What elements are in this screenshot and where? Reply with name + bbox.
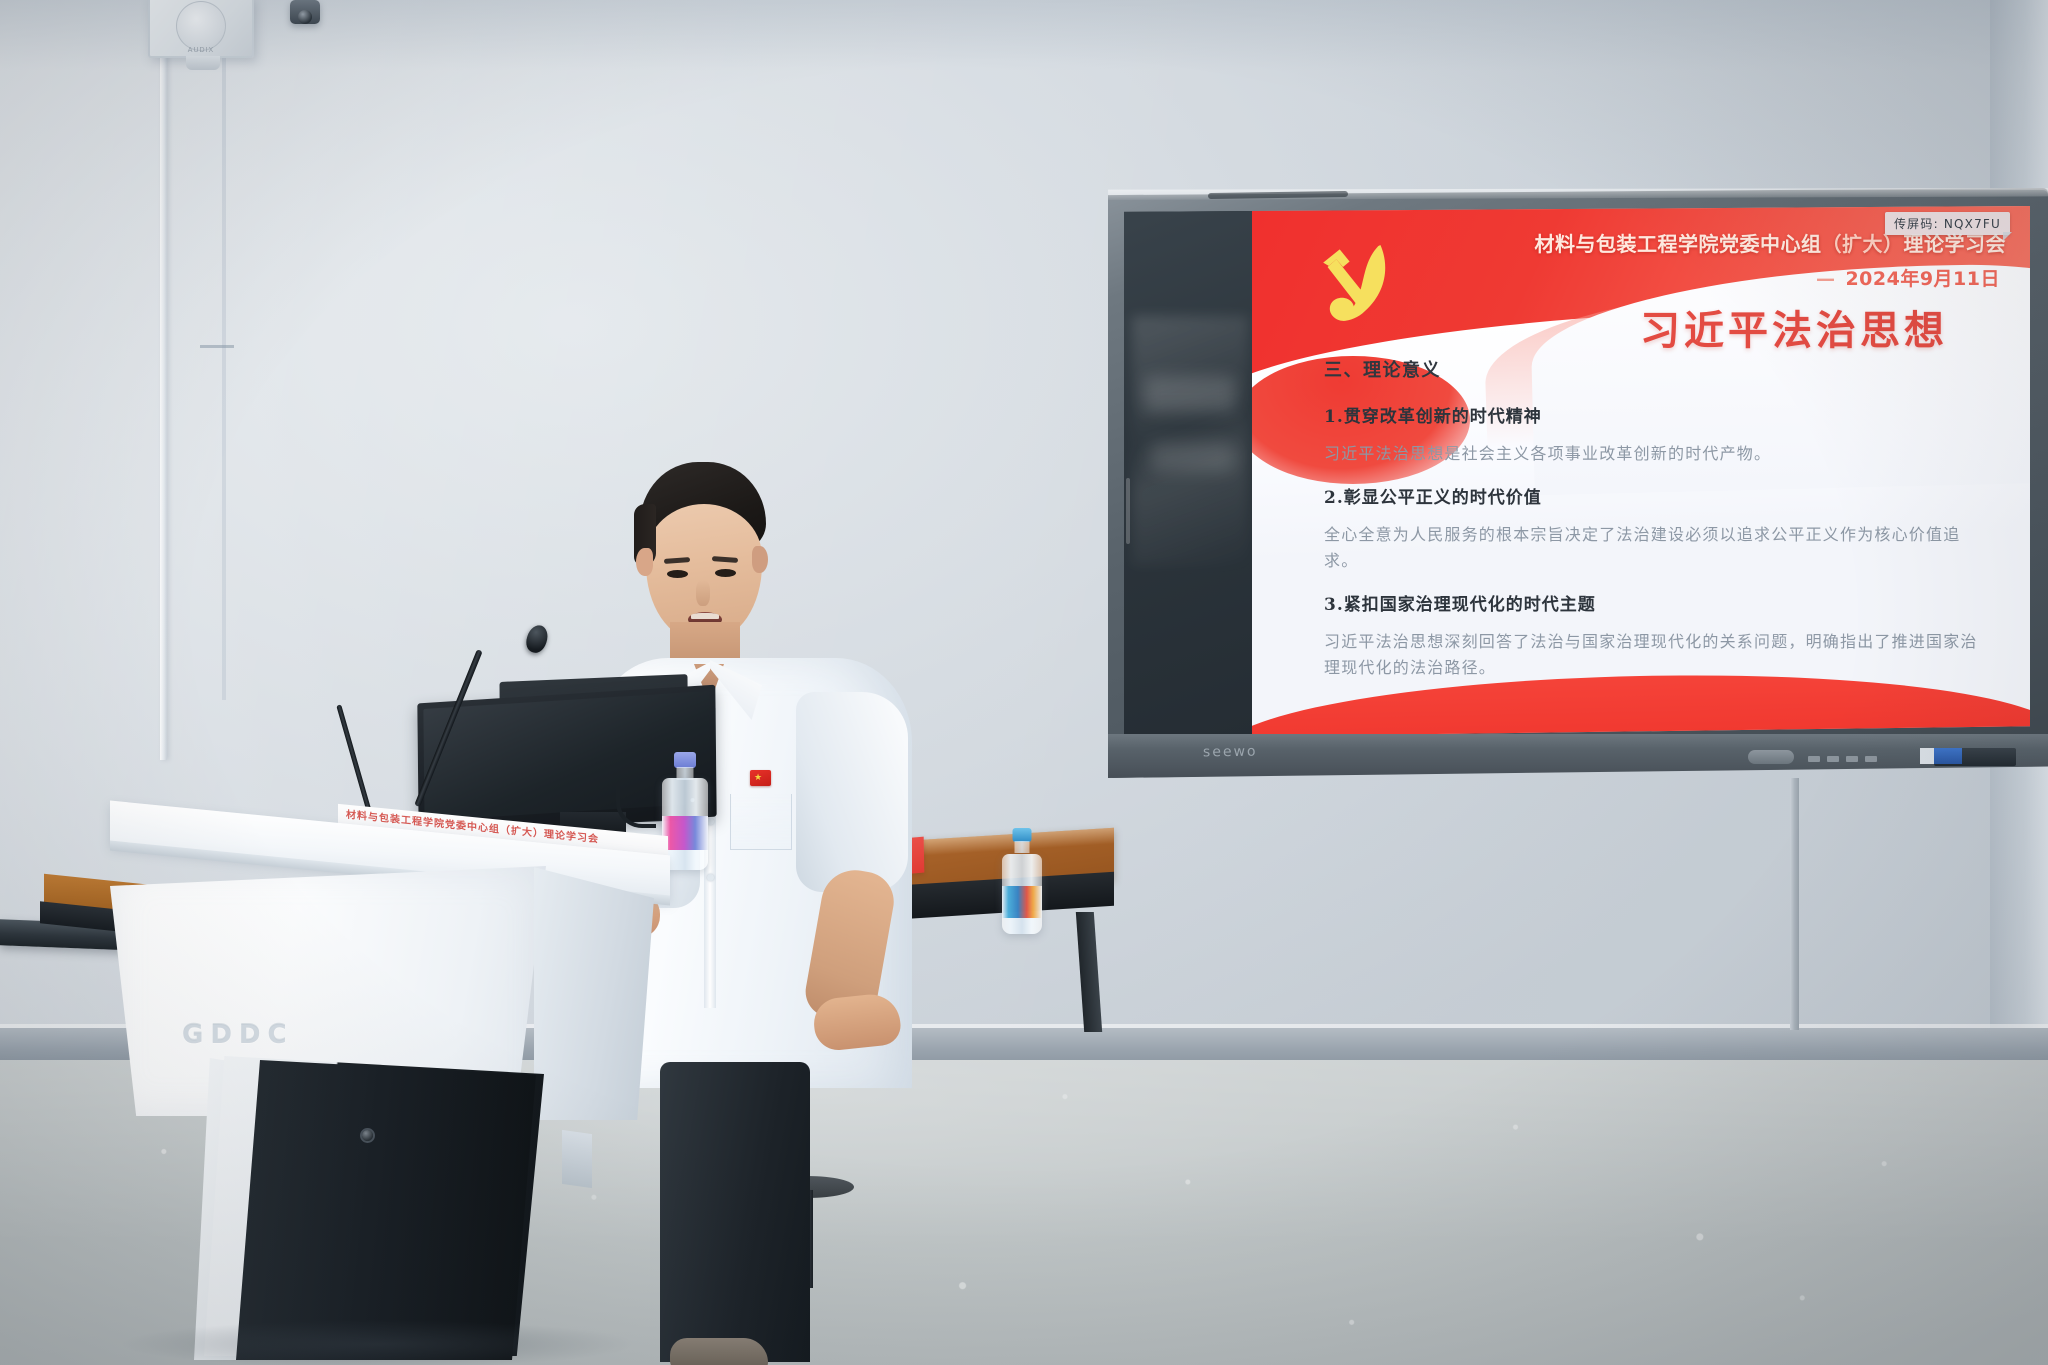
speaker-cone-icon [176, 1, 226, 51]
slide-header-tail: 理论学习会 [1904, 232, 2007, 256]
slide-header-paren: （扩大） [1822, 232, 1904, 256]
slide-title: 习近平法治思想 [1640, 298, 1948, 356]
presentation-slide: 材料与包装工程学院党委中心组（扩大）理论学习会 —2024年9月11日 习近平法… [1252, 206, 2030, 738]
display-wall-mount [1790, 778, 1799, 1030]
power-port-icon[interactable] [1865, 756, 1877, 762]
presenter-ear-right [752, 546, 768, 573]
slide-section-heading: 三、理论意义 [1324, 356, 1984, 382]
bottle-cap [674, 752, 696, 768]
water-bottle[interactable] [1002, 828, 1042, 932]
screen-glare [1132, 316, 1248, 566]
usb-port-icon[interactable] [1808, 756, 1820, 762]
party-emblem-icon [1298, 234, 1410, 344]
slide-point-body: 习近平法治思想是社会主义各项事业改革创新的时代产物。 [1324, 441, 1984, 467]
slide-point-head: 3.紧扣国家治理现代化的时代主题 [1324, 590, 1984, 615]
podium-base-dark-panel [236, 1060, 536, 1360]
cast-code-badge-corner [2003, 232, 2012, 241]
bottle-neck [1015, 841, 1030, 853]
bezel-io-blue-connector[interactable] [1934, 748, 1962, 764]
slide-date-line: —2024年9月11日 [1816, 264, 2000, 291]
slide-point-head: 2.彰显公平正义的时代价值 [1324, 483, 1984, 508]
slide-date-value: 2024年9月11日 [1845, 268, 2000, 290]
screen-glare-highlight-upper [1144, 376, 1236, 412]
party-pin-star-icon: ★ [754, 773, 763, 782]
presenter-nose [696, 580, 710, 606]
podium-floor-shadow [118, 1320, 638, 1365]
display-brand-label: seewo [1203, 744, 1258, 761]
display-screen[interactable]: 材料与包装工程学院党委中心组（扩大）理论学习会 —2024年9月11日 习近平法… [1124, 206, 2030, 738]
speaker-bracket [186, 56, 220, 70]
usb-port-icon[interactable] [1827, 756, 1839, 762]
slide-point-head: 1.贯穿改革创新的时代精神 [1324, 402, 1984, 427]
screen-glare-highlight-lower [1150, 442, 1234, 472]
presenter-teeth [691, 613, 719, 619]
presenter-shoe [670, 1338, 768, 1365]
podium: 材料与包装工程学院党委中心组（扩大）理论学习会 GDDC [110, 828, 670, 1365]
bezel-io-white-connector[interactable] [1920, 748, 1934, 764]
home-button-icon[interactable] [1748, 750, 1794, 764]
shirt-button [707, 874, 714, 881]
presenter-trousers [660, 1062, 810, 1362]
ceiling-camera [290, 0, 320, 24]
slide-point-body: 全心全意为人民服务的根本宗旨决定了法治建设必须以追求公平正义作为核心价值追求。 [1324, 522, 1984, 574]
presenter-eye-left [667, 570, 688, 578]
cast-code-badge: 传屏码: NQX7FU [1885, 212, 2010, 235]
presenter-sleeve-right [796, 692, 908, 892]
hdmi-port-icon[interactable] [1846, 756, 1858, 762]
slide-header-main: 材料与包装工程学院党委中心组 [1535, 232, 1822, 256]
podium-lock-icon[interactable] [362, 1130, 373, 1141]
podium-side-panel [534, 862, 654, 1120]
lecture-hall-photo: AUDIX [0, 0, 2048, 1365]
wall-speaker: AUDIX [148, 0, 254, 58]
presenter-shirt-pocket [730, 794, 792, 850]
camera-lens-icon [298, 10, 312, 24]
podium-label-plate [562, 1130, 592, 1188]
screen-side-button[interactable] [1126, 478, 1130, 544]
presenter-eye-right [715, 569, 736, 577]
slide-point-body: 习近平法治思想深刻回答了法治与国家治理现代化的关系问题，明确指出了推进国家治理现… [1324, 629, 1984, 681]
wall-seam-joint [200, 345, 234, 348]
slide-date-dash: — [1816, 268, 1836, 290]
bezel-port-row[interactable] [1808, 754, 1918, 763]
bottle-label [1002, 886, 1042, 918]
wall-seam-secondary [222, 0, 226, 700]
presenter-ear-left [636, 548, 653, 576]
wall-conduit [160, 0, 167, 760]
bottle-cap [1013, 828, 1032, 842]
podium-logo-text: GDDC [182, 1020, 294, 1050]
speaker-brand-label: AUDIX [188, 47, 214, 54]
interactive-display[interactable]: 材料与包装工程学院党委中心组（扩大）理论学习会 —2024年9月11日 习近平法… [1108, 188, 2048, 778]
shirt-button [707, 818, 714, 825]
